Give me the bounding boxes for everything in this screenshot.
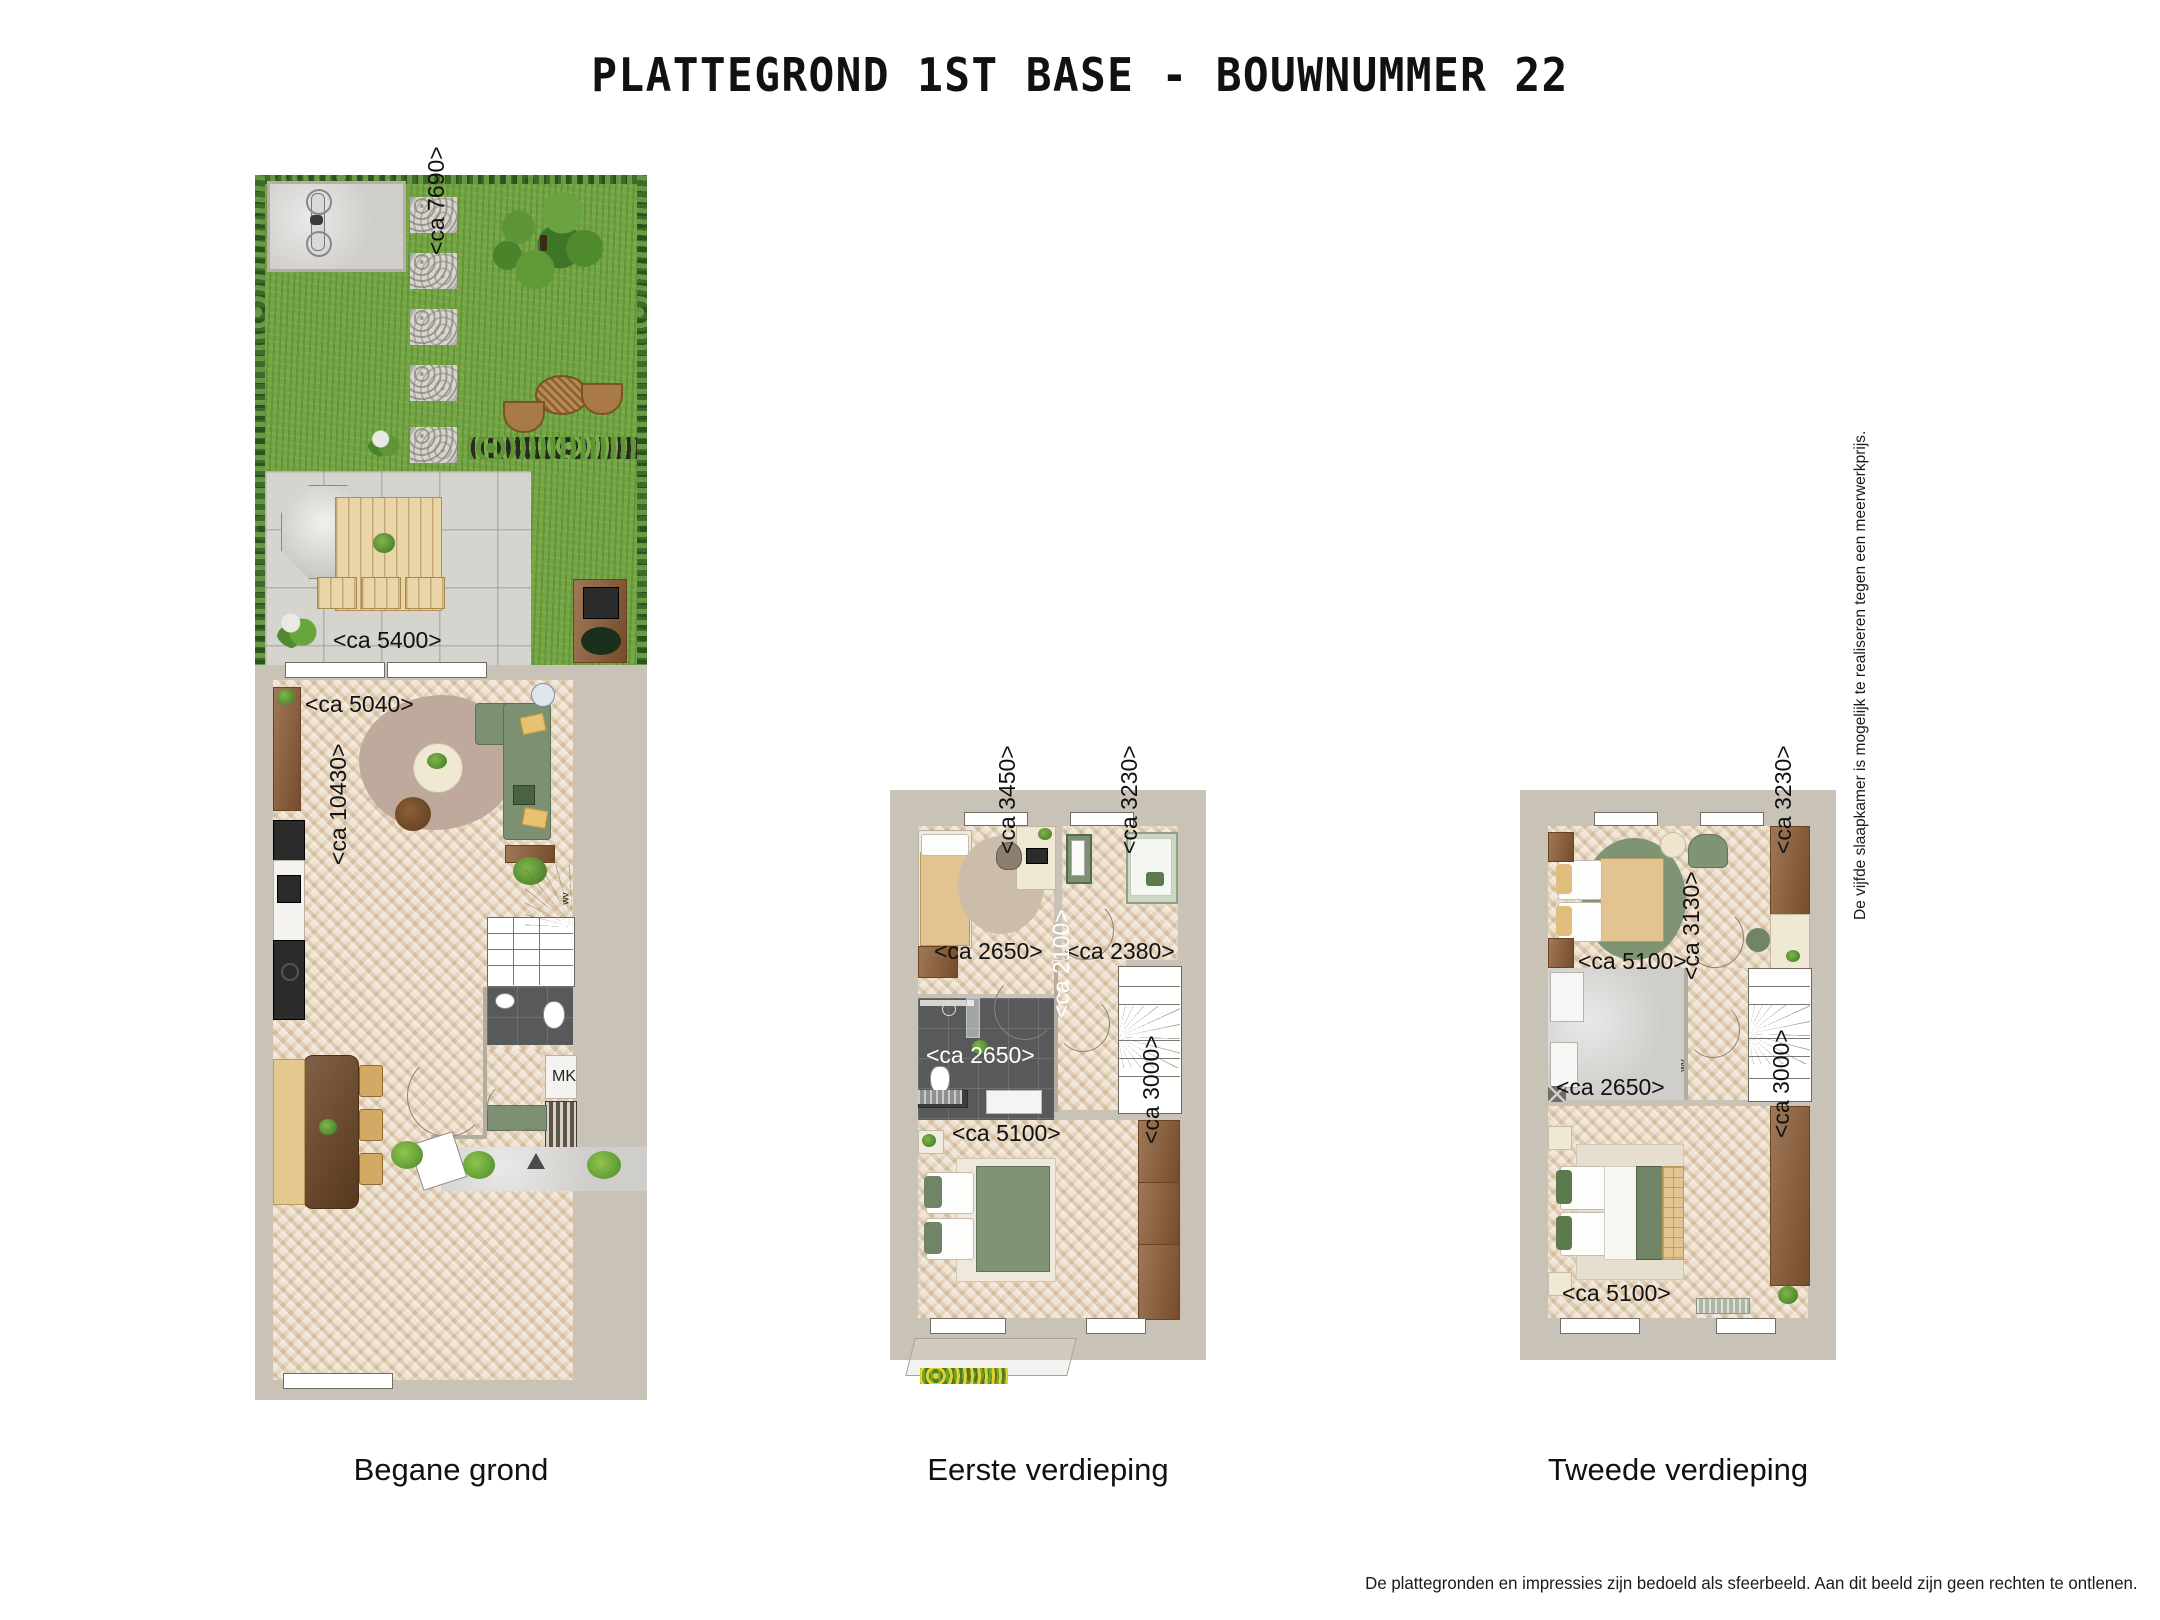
dim-storage-width: <ca 2650> [1556, 1074, 1665, 1101]
armchair-4 [1688, 834, 1728, 868]
bedroom-5-radiator [1696, 1298, 1750, 1314]
bed-4-cushion-2 [1556, 906, 1572, 936]
shower-glass [966, 998, 980, 1038]
dim-bedroom3-width: <ca 2380> [1066, 938, 1175, 965]
north-arrow [527, 1153, 545, 1169]
front-window-f2-right [1716, 1318, 1776, 1334]
dim-bedroom4-depth: <ca 3230> [1770, 745, 1797, 854]
master-cushion-1 [924, 1176, 942, 1208]
desk-2-plant [1038, 828, 1052, 840]
hedge-right [637, 175, 647, 665]
stepping-stone-2 [410, 253, 457, 289]
stepping-stone-5 [410, 427, 457, 463]
dim-living-depth: <ca 10430> [325, 743, 352, 865]
bed-2-pillow [921, 834, 969, 856]
bicycle-wheel-rear [306, 231, 332, 257]
caption-begane-grond: Begane grond [255, 1452, 647, 1488]
garden-shrub [367, 427, 401, 457]
toilet-pan [543, 1001, 565, 1029]
bed-4-nightstand-bottom [1548, 938, 1574, 968]
side-table-4 [1660, 832, 1686, 858]
toilet-sink [495, 993, 515, 1009]
coat-closet [545, 1101, 577, 1149]
dim-master-depth: <ca 3000> [1138, 1035, 1165, 1144]
dining-chair-3 [359, 1153, 383, 1185]
living-door-arc [407, 1055, 487, 1137]
bed-5-nightstand-top [1548, 1126, 1572, 1150]
master-plant [922, 1134, 936, 1147]
bike-shed [267, 181, 406, 272]
wv-label-ground: wv [561, 892, 572, 904]
master-bed-duvet [976, 1166, 1050, 1272]
dim-bedroom3-depth: <ca 3230> [1116, 745, 1143, 854]
dim-terrace: <ca 5400> [333, 627, 442, 654]
kitchen-sink [281, 963, 299, 981]
caption-tweede-verdieping: Tweede verdieping [1520, 1452, 1836, 1488]
kitchen-tall-cabinet [273, 820, 305, 862]
tv-sideboard [273, 687, 301, 811]
bedroom2-door-arc [994, 976, 1056, 1040]
stepping-stone-4 [410, 365, 457, 401]
master-cushion-2 [924, 1222, 942, 1254]
bed-5-cushion-1 [1556, 1170, 1572, 1204]
storage-door-arc [1686, 1002, 1740, 1058]
dining-chair-2 [359, 1109, 383, 1141]
front-window-f2-left [1560, 1318, 1640, 1334]
dim-bedroom5-width: <ca 5100> [1562, 1280, 1671, 1307]
rear-sliding-door-right [387, 662, 487, 678]
stepping-stone-3 [410, 309, 457, 345]
floorplan-eerste-verdieping: <ca 3450> <ca 2650> <ca 3230> <ca 2380> … [890, 790, 1206, 1360]
front-window-ground [283, 1373, 393, 1389]
master-wardrobe-3 [1138, 1244, 1180, 1320]
bed-5-cushion-2 [1556, 1216, 1572, 1250]
lounge-seat-3 [405, 577, 445, 609]
side-note-fifth-bedroom: De vijfde slaapkamer is mogelijk te real… [1852, 431, 1870, 920]
rear-window-f2-left [1594, 812, 1658, 826]
hedge-left [255, 175, 265, 665]
rear-window-f2-right [1700, 812, 1764, 826]
dim-garden-path: <ca 7690> [423, 146, 450, 255]
staircase-ground [487, 917, 575, 987]
bed-5-throw-check [1662, 1166, 1684, 1260]
bed-4-duvet [1600, 858, 1664, 942]
cushion-green [513, 785, 535, 805]
bed-5-duvet [1604, 1166, 1638, 1260]
terrace-plant [373, 533, 395, 553]
bedroom-5-plant [1778, 1286, 1798, 1304]
bed-5-throw-green [1636, 1166, 1664, 1260]
bicycle-wheel-front [306, 189, 332, 215]
bedroom-4-plant [1786, 950, 1800, 962]
pouf [395, 797, 431, 831]
front-door-arc [487, 1081, 547, 1131]
bed-4-nightstand-top [1548, 832, 1574, 862]
desk-2-monitor [1026, 848, 1048, 864]
bathroom-radiator [918, 1090, 962, 1104]
floorplan-begane-grond: <ca 7690> <ca 5400> wv [255, 175, 647, 1400]
master-wardrobe-2 [1138, 1182, 1180, 1246]
coffee-table-plant [427, 753, 447, 769]
disclaimer-text: De plattegronden en impressies zijn bedo… [1366, 1573, 2138, 1594]
dim-master-width: <ca 5100> [952, 1120, 1061, 1147]
dining-bench [273, 1059, 305, 1205]
mk-label: MK [552, 1068, 576, 1086]
bed-4-cushion-1 [1556, 864, 1572, 894]
shower-head [942, 1002, 956, 1016]
terrace-shrub [275, 607, 320, 649]
ceiling-light [531, 683, 555, 707]
dim-living-width: <ca 5040> [305, 691, 414, 718]
cushion-yellow-2 [522, 807, 549, 829]
stool-4 [1746, 928, 1770, 952]
sideboard-plant [277, 689, 295, 705]
front-window-f1-right [1086, 1318, 1146, 1334]
front-shrub-2 [463, 1151, 495, 1179]
dim-bathroom-depth: <ca 2100> [1048, 909, 1075, 1018]
bicycle-seat [310, 215, 323, 225]
bed-3-throw [1146, 872, 1164, 886]
caption-eerste-verdieping: Eerste verdieping [890, 1452, 1206, 1488]
dim-bedroom4-width: <ca 5100> [1578, 948, 1687, 975]
kitchen-hob [277, 875, 301, 903]
dim-bedroom5-depth: <ca 3000> [1768, 1029, 1795, 1138]
dim-storage-depth: <ca 3130> [1678, 871, 1705, 980]
storage-unit-1 [1550, 972, 1584, 1022]
dining-table-plant [319, 1119, 337, 1135]
floorplan-tweede-verdieping: wv <ca 5100> <ca 3230> <ca 3130> <ca 265… [1520, 790, 1836, 1360]
front-window-f1-left [930, 1318, 1006, 1334]
storage-lid [583, 587, 619, 619]
bathtub [986, 1090, 1042, 1114]
dim-bedroom2-width: <ca 2650> [934, 938, 1043, 965]
front-shrub-3 [587, 1151, 621, 1179]
front-shrub-1 [391, 1141, 423, 1169]
dim-bedroom2-depth: <ca 3450> [994, 745, 1021, 854]
page-title: PLATTEGROND 1ST BASE - BOUWNUMMER 22 [76, 48, 2085, 102]
tree-trunk [540, 235, 547, 251]
lounge-seat-1 [317, 577, 357, 609]
wardrobe-3-mirror [1071, 840, 1085, 876]
rear-sliding-door-left [285, 662, 385, 678]
firepit [581, 627, 621, 655]
planting-border [467, 437, 637, 459]
dining-chair-1 [359, 1065, 383, 1097]
lounge-seat-2 [361, 577, 401, 609]
dim-bathroom-width: <ca 2650> [926, 1042, 1035, 1069]
flower-bed-front [920, 1368, 1008, 1384]
